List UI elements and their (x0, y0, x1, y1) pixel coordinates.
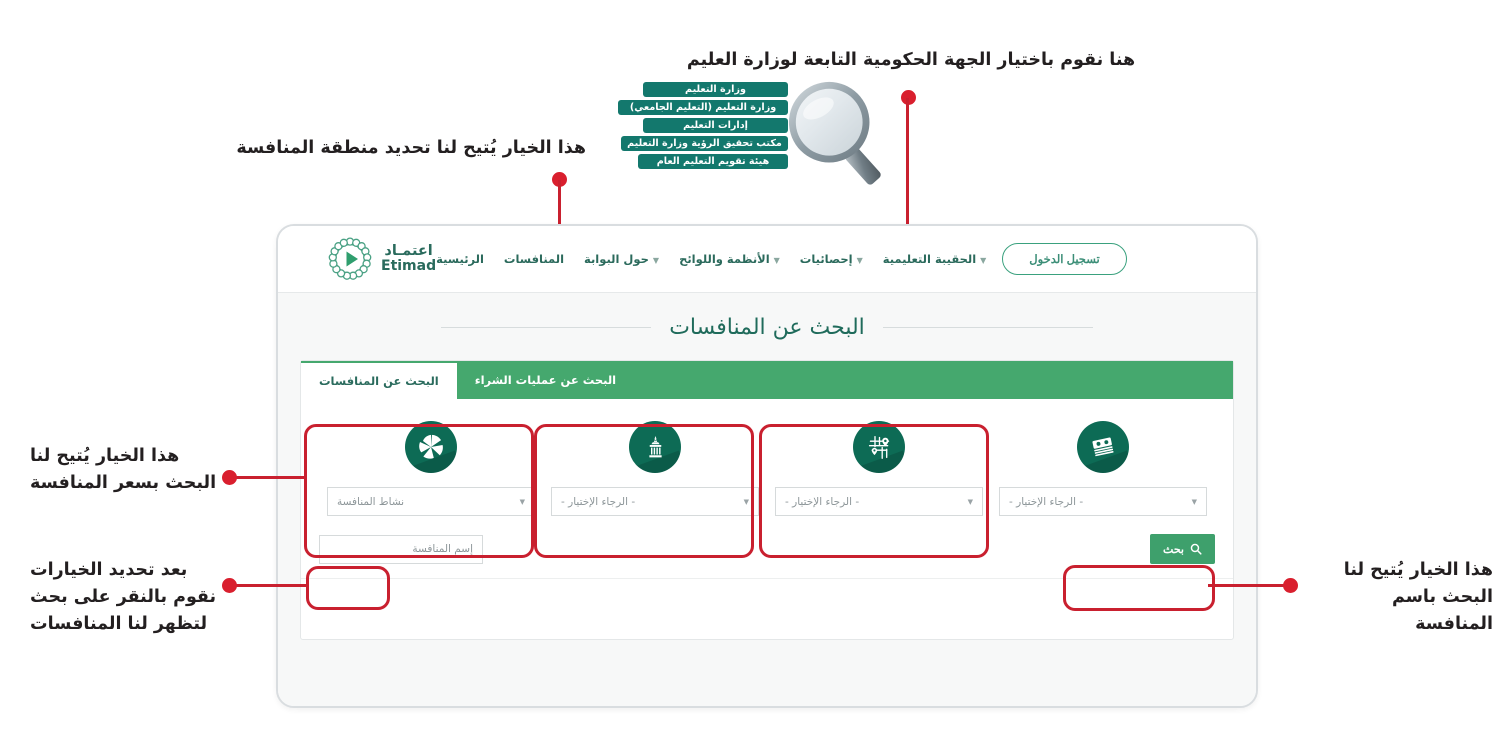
nav-label: حول البوابة (584, 252, 649, 266)
filter-activity: نشاط المنافسة ▼ (319, 415, 543, 524)
annotation-dot-tender-name (1283, 578, 1298, 593)
login-button[interactable]: تسجيل الدخول (1002, 243, 1126, 275)
dropdown-option: إدارات التعليم (643, 118, 788, 133)
select-value: - الرجاء الإختيار - (561, 496, 635, 508)
tutorial-screenshot: هنا نقوم باختيار الجهة الحكومية التابعة … (0, 0, 1500, 742)
nav-tenders[interactable]: المنافسات (504, 252, 564, 266)
tab-search-purchases[interactable]: البحث عن عمليات الشراء (457, 361, 634, 399)
dropdown-illustration: وزارة التعليم وزارة التعليم (التعليم الج… (618, 82, 788, 172)
annotation-line-price (232, 476, 306, 479)
select-value: - الرجاء الإختيار - (785, 496, 859, 508)
top-navigation-bar: اعتمـاد Etimad الرئيسية المنافسات حول ال… (278, 226, 1256, 292)
annotation-search-click-text: بعد تحديد الخيارات نقوم بالنقر على بحث ل… (30, 557, 220, 638)
etimad-logo-icon (328, 237, 372, 281)
select-value: - الرجاء الإختيار - (1009, 496, 1083, 508)
magnifier-icon (782, 78, 900, 188)
nav-label: الحقيبة التعليمية (883, 252, 976, 266)
tabs-filler (634, 361, 1233, 399)
dropdown-option: وزارة التعليم (التعليم الجامعي) (618, 100, 788, 115)
chevron-down-icon: ▼ (744, 498, 749, 506)
filter-region: - الرجاء الإختيار - ▼ (767, 415, 991, 524)
dropdown-option: هيئة تقويم التعليم العام (638, 154, 788, 169)
nav-label: المنافسات (504, 252, 564, 266)
filter-region-select[interactable]: - الرجاء الإختيار - ▼ (775, 487, 983, 516)
tender-name-input[interactable]: إسم المنافسة (319, 535, 483, 564)
title-divider-left (883, 327, 1093, 328)
tab-search-tenders[interactable]: البحث عن المنافسات (301, 361, 457, 399)
annotation-price-text: هذا الخيار يُتيح لنا البحث بسعر المنافسة (30, 443, 220, 497)
annotation-dot-search (222, 578, 237, 593)
nav-about-portal[interactable]: حول البوابة ▼ (584, 252, 659, 266)
nav-home[interactable]: الرئيسية (436, 252, 484, 266)
etimad-portal-window: اعتمـاد Etimad الرئيسية المنافسات حول ال… (276, 224, 1258, 708)
annotation-line-search (232, 584, 308, 587)
brand-english: Etimad (381, 259, 436, 274)
filter-price: - الرجاء الإختيار - ▼ (991, 415, 1215, 524)
government-building-icon (629, 421, 681, 473)
etimad-logo[interactable]: اعتمـاد Etimad (328, 237, 436, 281)
search-row: إسم المنافسة بحث (301, 530, 1233, 579)
filter-government-entity: - الرجاء الإختيار - ▼ (543, 415, 767, 524)
select-value: نشاط المنافسة (337, 496, 404, 508)
nav-label: إحصائيات (800, 252, 853, 266)
annotation-tender-name-text: هذا الخيار يُتيح لنا البحث باسم المنافسة (1313, 557, 1493, 638)
dropdown-option: مكتب تحقيق الرؤية وزارة التعليم (621, 136, 788, 151)
nav-regulations[interactable]: الأنظمة واللوائح ▼ (679, 252, 780, 266)
search-icon (1190, 543, 1202, 555)
chevron-down-icon: ▼ (774, 256, 780, 265)
search-panel: البحث عن المنافسات البحث عن عمليات الشرا… (300, 360, 1234, 640)
chevron-down-icon: ▼ (968, 498, 973, 506)
page-title: البحث عن المنافسات (669, 315, 865, 340)
chevron-down-icon: ▼ (857, 256, 863, 265)
tab-label: البحث عن عمليات الشراء (475, 373, 616, 387)
chevron-down-icon: ▼ (1192, 498, 1197, 506)
title-divider-right (441, 327, 651, 328)
filter-activity-select[interactable]: نشاط المنافسة ▼ (327, 487, 535, 516)
annotation-line-tender-name (1208, 584, 1290, 587)
chevron-down-icon: ▼ (653, 256, 659, 265)
chevron-down-icon: ▼ (520, 498, 525, 506)
page-title-row: البحث عن المنافسات (278, 293, 1256, 352)
search-button[interactable]: بحث (1150, 534, 1215, 564)
search-tabs: البحث عن المنافسات البحث عن عمليات الشرا… (301, 361, 1233, 399)
nav-label: الرئيسية (436, 252, 484, 266)
filter-government-entity-select[interactable]: - الرجاء الإختيار - ▼ (551, 487, 759, 516)
tender-name-placeholder: إسم المنافسة (412, 543, 473, 555)
page-body: البحث عن المنافسات البحث عن المنافسات ال… (278, 292, 1256, 707)
filter-row: نشاط المنافسة ▼ (301, 399, 1233, 530)
map-location-icon (853, 421, 905, 473)
filter-price-select[interactable]: - الرجاء الإختيار - ▼ (999, 487, 1207, 516)
chevron-down-icon: ▼ (980, 256, 986, 265)
tab-label: البحث عن المنافسات (319, 374, 439, 388)
search-button-label: بحث (1163, 543, 1184, 556)
dropdown-option: وزارة التعليم (643, 82, 788, 97)
brand-arabic: اعتمـاد (381, 244, 436, 259)
activity-pinwheel-icon (405, 421, 457, 473)
annotation-top-left: هذا الخيار يُتيح لنا تحديد منطقة المنافس… (206, 135, 586, 162)
brand-wordmark: اعتمـاد Etimad (381, 244, 436, 274)
nav-statistics[interactable]: إحصائيات ▼ (800, 252, 863, 266)
nav-links: الرئيسية المنافسات حول البوابة ▼ الأنظمة… (436, 252, 986, 266)
annotation-dot-price (222, 470, 237, 485)
nav-learning-kit[interactable]: الحقيبة التعليمية ▼ (883, 252, 987, 266)
money-stack-icon (1077, 421, 1129, 473)
annotation-top-center: هنا نقوم باختيار الجهة الحكومية التابعة … (676, 47, 1146, 74)
nav-label: الأنظمة واللوائح (679, 252, 770, 266)
